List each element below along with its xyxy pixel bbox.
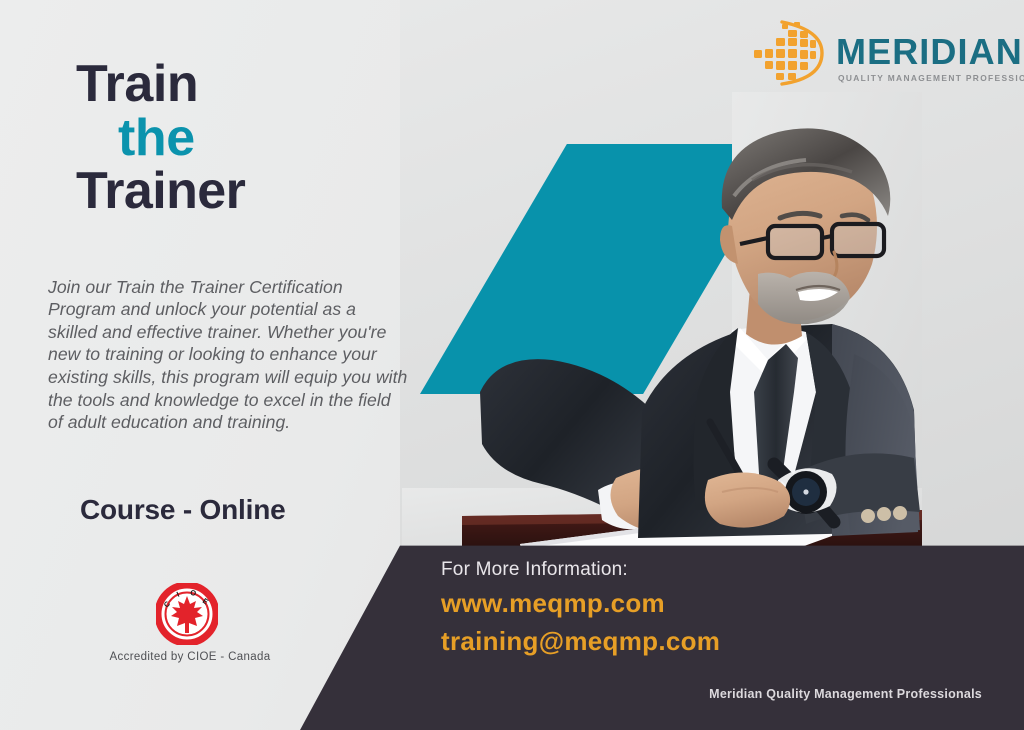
more-information-label: For More Information: [441,559,628,581]
company-name-footer: Meridian Quality Management Professional… [709,687,982,701]
headline-line-1: Train [76,58,476,112]
website-link[interactable]: www.meqmp.com [441,588,665,619]
course-mode-label: Course - Online [80,494,285,526]
email-link[interactable]: training@meqmp.com [441,626,720,657]
headline-line-2: the [76,112,476,166]
program-description: Join our Train the Trainer Certification… [48,276,408,434]
brand-logo: MERIDIAN QUALITY MANAGEMENT PROFESSIONAL… [752,16,1008,90]
page-title: Train the Trainer [76,58,476,219]
globe-grid-icon [752,18,832,88]
brand-wordmark: MERIDIAN [836,34,1023,70]
accreditation-text: Accredited by CIOE - Canada [40,651,340,663]
brand-tagline: QUALITY MANAGEMENT PROFESSIONALS [838,74,1024,82]
headline-line-3: Trainer [76,165,476,219]
cioe-canada-badge-icon: C I O E [156,583,218,645]
poster-canvas: MERIDIAN QUALITY MANAGEMENT PROFESSIONAL… [0,0,1024,730]
trainer-photo [402,92,922,554]
